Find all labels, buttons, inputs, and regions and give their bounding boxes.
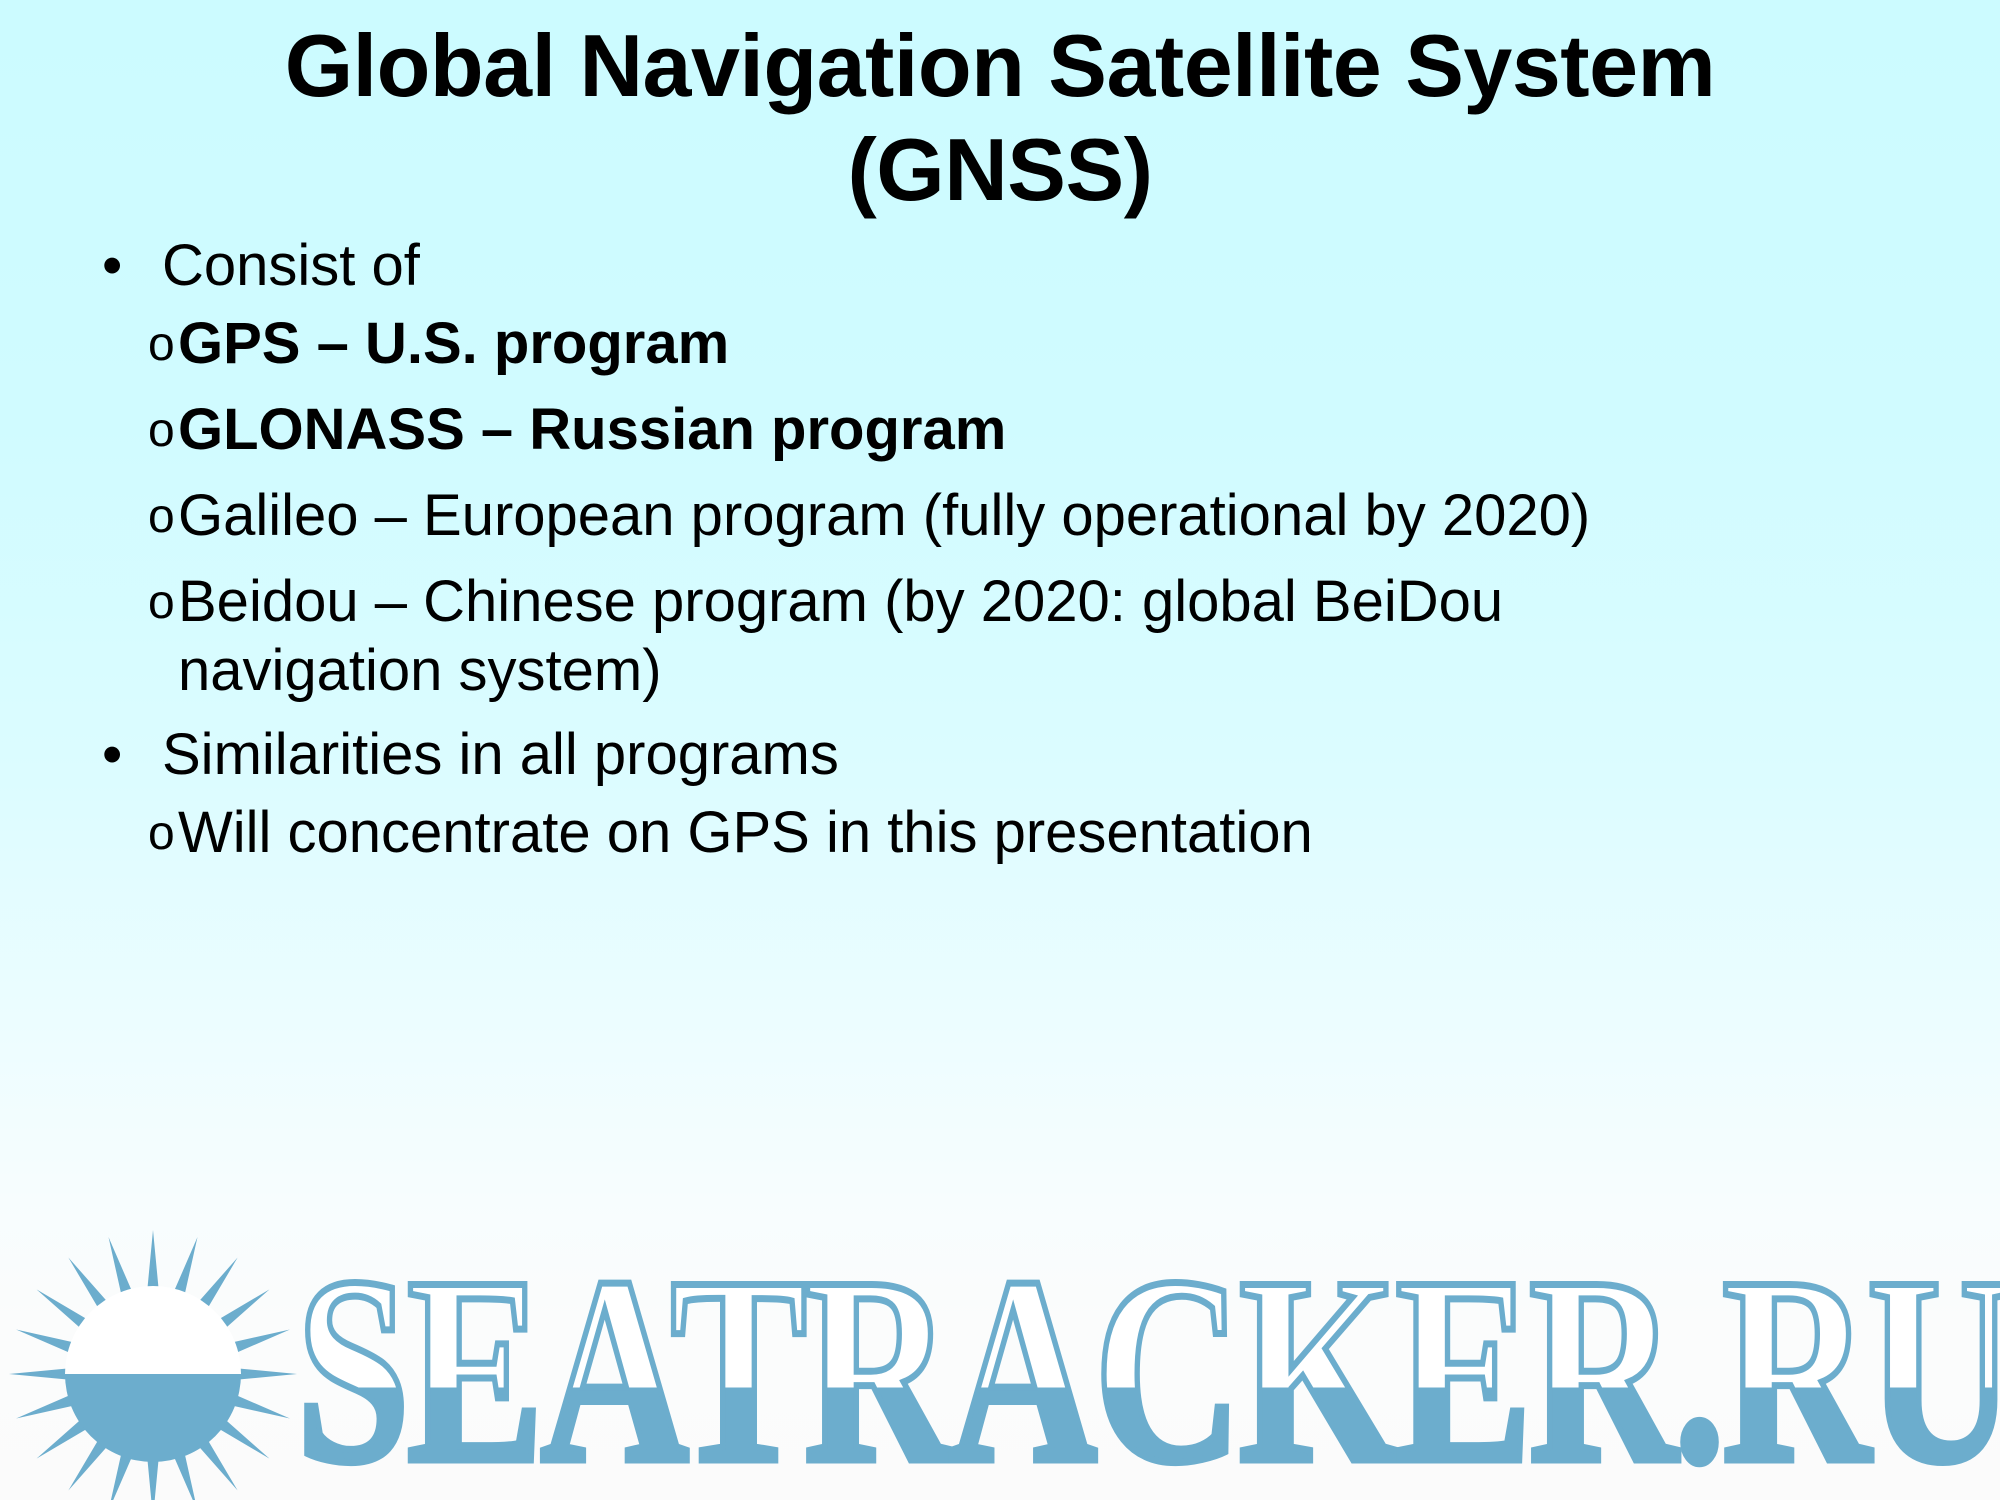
- page-title-line-2: (GNSS): [120, 118, 1880, 222]
- bullet-circle-icon: o: [148, 482, 175, 551]
- bullet-circle-icon: o: [148, 568, 175, 637]
- bullet-item-consist-of: • Consist of: [70, 232, 1970, 300]
- bullet-circle-icon: o: [148, 310, 175, 379]
- bullet-text: Similarities in all programs: [162, 722, 839, 787]
- bullet-item-similarities: • Similarities in all programs: [70, 721, 1970, 789]
- bullet-text: Galileo – European program (fully operat…: [178, 483, 1590, 548]
- bullet-dot-icon: •: [102, 721, 142, 789]
- bullet-item-galileo: o Galileo – European program (fully oper…: [70, 481, 1738, 550]
- bullet-text: Consist of: [162, 233, 420, 298]
- sun-lower-half: [65, 1374, 241, 1462]
- sun-upper-half: [65, 1286, 241, 1374]
- bullet-item-will-concentrate: o Will concentrate on GPS in this presen…: [70, 798, 1738, 867]
- bullet-item-beidou: o Beidou – Chinese program (by 2020: glo…: [70, 567, 1738, 705]
- bullet-circle-icon: o: [148, 396, 175, 465]
- sunrise-sun-logo-icon: [8, 1230, 298, 1500]
- watermark-text: SEATRACKER.RU: [296, 1232, 2000, 1500]
- bullet-text: Beidou – Chinese program (by 2020: globa…: [178, 569, 1503, 703]
- bullet-circle-icon: o: [148, 799, 175, 868]
- watermark-wordmark: SEATRACKER.RU: [296, 1232, 2000, 1500]
- page-title: Global Navigation Satellite System (GNSS…: [0, 14, 2000, 222]
- page-title-line-1: Global Navigation Satellite System: [120, 14, 1880, 118]
- bullet-dot-icon: •: [102, 232, 142, 300]
- watermark: SEATRACKER.RU: [0, 1230, 2000, 1500]
- bullet-text: GLONASS – Russian program: [178, 397, 1006, 462]
- bullet-list: • Consist of o GPS – U.S. program o GLON…: [70, 232, 1970, 884]
- bullet-item-gps: o GPS – U.S. program: [70, 309, 1738, 378]
- bullet-item-glonass: o GLONASS – Russian program: [70, 395, 1738, 464]
- bullet-text: GPS – U.S. program: [178, 311, 729, 376]
- bullet-text: Will concentrate on GPS in this presenta…: [178, 800, 1313, 865]
- slide-canvas: Global Navigation Satellite System (GNSS…: [0, 0, 2000, 1500]
